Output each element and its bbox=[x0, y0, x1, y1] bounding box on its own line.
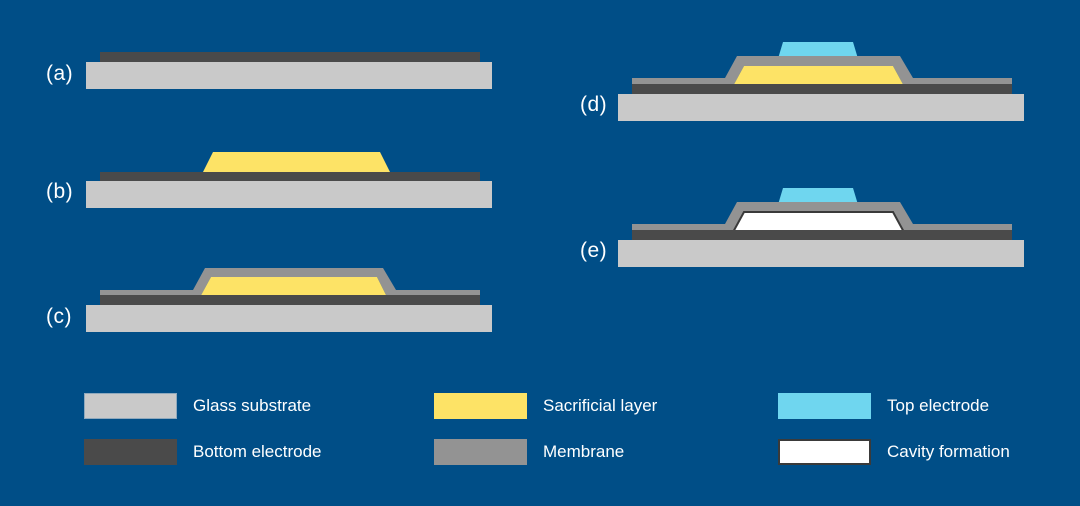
fabrication-process-figure: (a) (b) (c) (d) (e) Glass substrate Bott… bbox=[0, 0, 1080, 506]
panel-d-stack bbox=[618, 42, 1024, 121]
legend-swatch-sacrificial-layer bbox=[434, 393, 527, 419]
panel-label-b: (b) bbox=[46, 180, 73, 204]
legend-label-sacrificial-layer: Sacrificial layer bbox=[543, 396, 657, 416]
panel-d-glass-substrate bbox=[618, 94, 1024, 121]
panel-e-bottom-electrode bbox=[632, 230, 1012, 241]
panel-a-bottom-electrode bbox=[100, 52, 480, 63]
legend-item-bottom-electrode: Bottom electrode bbox=[84, 439, 322, 465]
process-diagram-svg bbox=[0, 0, 1080, 506]
legend-swatch-glass-substrate bbox=[84, 393, 177, 419]
panel-a-glass-substrate bbox=[86, 62, 492, 89]
panel-e-stack bbox=[618, 188, 1024, 267]
panel-b-glass-substrate bbox=[86, 181, 492, 208]
legend-item-sacrificial-layer: Sacrificial layer bbox=[434, 393, 657, 419]
legend-item-top-electrode: Top electrode bbox=[778, 393, 989, 419]
legend-label-membrane: Membrane bbox=[543, 442, 624, 462]
legend-label-cavity-formation: Cavity formation bbox=[887, 442, 1010, 462]
panel-label-c: (c) bbox=[46, 305, 72, 329]
panel-label-e: (e) bbox=[580, 239, 607, 263]
legend-swatch-cavity-formation bbox=[778, 439, 871, 465]
panel-c-glass-substrate bbox=[86, 305, 492, 332]
panel-b-sacrificial-layer bbox=[202, 152, 391, 174]
legend-label-bottom-electrode: Bottom electrode bbox=[193, 442, 322, 462]
legend-item-membrane: Membrane bbox=[434, 439, 624, 465]
legend-label-glass-substrate: Glass substrate bbox=[193, 396, 311, 416]
panel-b-stack bbox=[86, 152, 492, 208]
panel-c-stack bbox=[86, 268, 492, 332]
panel-label-a: (a) bbox=[46, 62, 73, 86]
legend-swatch-top-electrode bbox=[778, 393, 871, 419]
legend-swatch-bottom-electrode bbox=[84, 439, 177, 465]
panel-d-bottom-electrode bbox=[632, 84, 1012, 95]
legend-swatch-membrane bbox=[434, 439, 527, 465]
panel-e-glass-substrate bbox=[618, 240, 1024, 267]
legend-label-top-electrode: Top electrode bbox=[887, 396, 989, 416]
legend-item-glass-substrate: Glass substrate bbox=[84, 393, 311, 419]
panel-c-bottom-electrode bbox=[100, 295, 480, 306]
panel-a-stack bbox=[86, 52, 492, 89]
panel-label-d: (d) bbox=[580, 93, 607, 117]
legend-item-cavity-formation: Cavity formation bbox=[778, 439, 1010, 465]
